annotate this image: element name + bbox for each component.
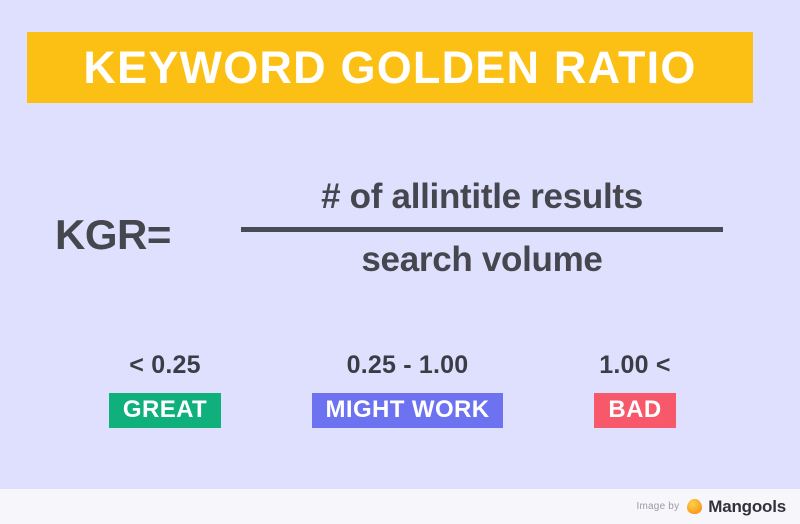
formula-label: KGR= — [55, 211, 171, 259]
range-item-might-work: 0.25 - 1.00 MIGHT WORK — [295, 352, 520, 428]
fraction-divider-line — [241, 227, 723, 232]
title-banner: KEYWORD GOLDEN RATIO — [27, 32, 753, 103]
footer-credit-label: Image by — [637, 501, 680, 512]
range-value: < 0.25 — [60, 352, 270, 380]
range-item-bad: 1.00 < BAD — [560, 352, 710, 428]
formula-fraction: # of allintitle results search volume — [241, 175, 723, 282]
formula-denominator: search volume — [241, 238, 723, 282]
kgr-range-legend: < 0.25 GREAT 0.25 - 1.00 MIGHT WORK 1.00… — [0, 352, 800, 442]
page-title: KEYWORD GOLDEN RATIO — [83, 45, 696, 90]
footer-attribution-bar: Image by Mangools — [0, 489, 800, 524]
kgr-formula: KGR= # of allintitle results search volu… — [0, 175, 800, 305]
formula-numerator: # of allintitle results — [241, 175, 723, 219]
footer-brand-name: Mangools — [708, 497, 786, 517]
range-value: 0.25 - 1.00 — [295, 352, 520, 380]
status-badge-might-work: MIGHT WORK — [312, 393, 504, 428]
status-badge-bad: BAD — [594, 393, 675, 428]
infographic-canvas: KEYWORD GOLDEN RATIO KGR= # of allintitl… — [0, 0, 800, 524]
status-badge-great: GREAT — [109, 393, 221, 428]
range-value: 1.00 < — [560, 352, 710, 380]
range-item-great: < 0.25 GREAT — [60, 352, 270, 428]
mango-logo-icon — [687, 499, 702, 514]
